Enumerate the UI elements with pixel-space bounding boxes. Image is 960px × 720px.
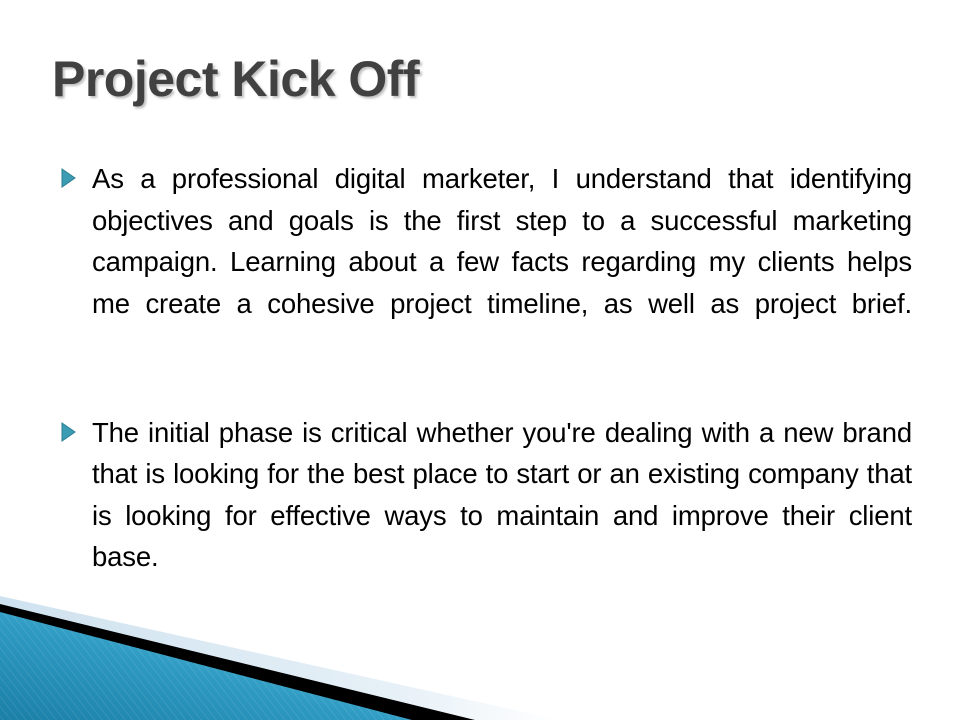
list-item: As a professional digital marketer, I un… bbox=[58, 158, 912, 366]
page-title: Project Kick Off bbox=[52, 52, 912, 106]
list-item-label: As a professional digital marketer, I un… bbox=[92, 158, 912, 366]
body-content: As a professional digital marketer, I un… bbox=[58, 158, 912, 619]
triangle-right-bullet-icon bbox=[58, 158, 92, 189]
slide: Project Kick Off As a professional digit… bbox=[0, 0, 960, 720]
list-item: The initial phase is critical whether yo… bbox=[58, 412, 912, 620]
list-item-label: The initial phase is critical whether yo… bbox=[92, 412, 912, 620]
triangle-right-bullet-icon bbox=[58, 412, 92, 443]
